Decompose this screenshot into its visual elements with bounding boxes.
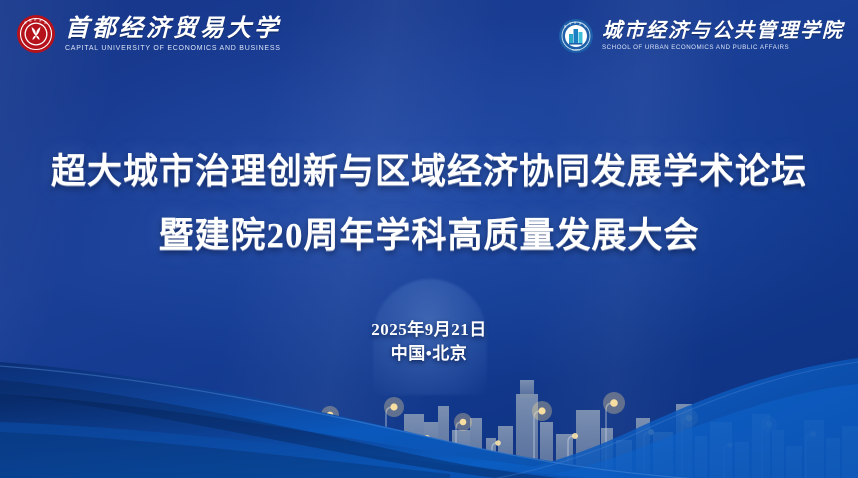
svg-text:都: 都 xyxy=(29,18,32,22)
svg-text:首: 首 xyxy=(24,21,27,25)
event-date: 2025年9月21日 xyxy=(0,318,858,342)
title-line-2: 暨建院20周年学科高质量发展大会 xyxy=(0,212,858,260)
logo-row: 首 都 经 济 贸 首都经济贸易大学 CAPITAL UNIVERSITY OF… xyxy=(0,0,858,78)
event-location: 中国•北京 xyxy=(0,342,858,366)
sueba-seal-icon: 城 市 经 济 与 SUEPA xyxy=(558,18,594,54)
svg-text:贸: 贸 xyxy=(44,21,47,25)
title-line-1: 超大城市治理创新与区域经济协同发展学术论坛 xyxy=(0,148,858,196)
event-meta: 2025年9月21日 中国•北京 xyxy=(0,318,858,366)
svg-text:济: 济 xyxy=(39,18,42,22)
city-skyline-silhouette xyxy=(22,380,858,478)
conference-poster: 首 都 经 济 贸 首都经济贸易大学 CAPITAL UNIVERSITY OF… xyxy=(0,0,858,478)
cueb-logo: 首 都 经 济 贸 首都经济贸易大学 CAPITAL UNIVERSITY OF… xyxy=(16,14,281,54)
street-lamps xyxy=(214,392,816,478)
cueb-seal-icon: 首 都 经 济 贸 xyxy=(16,14,56,54)
sueba-name-en: SCHOOL OF URBAN ECONOMICS AND PUBLIC AFF… xyxy=(602,45,844,51)
sueba-logo: 城 市 经 济 与 SUEPA 城市经济与公共管理学院 SCHOOL OF UR… xyxy=(558,18,844,54)
cueb-name-cn: 首都经济贸易大学 xyxy=(65,17,281,41)
cueb-name-en: CAPITAL UNIVERSITY OF ECONOMICS AND BUSI… xyxy=(65,45,281,52)
poster-title: 超大城市治理创新与区域经济协同发展学术论坛 暨建院20周年学科高质量发展大会 xyxy=(0,148,858,260)
blue-ribbon-wave xyxy=(0,358,858,478)
svg-text:SUEPA: SUEPA xyxy=(572,49,580,52)
sueba-name-cn: 城市经济与公共管理学院 xyxy=(602,21,844,41)
svg-text:经: 经 xyxy=(34,18,37,22)
